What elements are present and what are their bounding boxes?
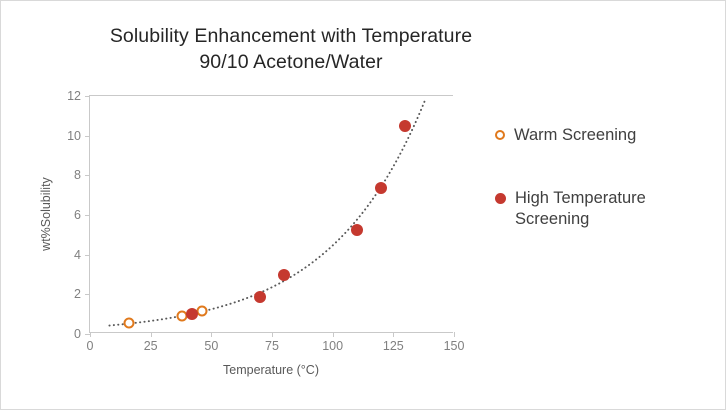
x-axis-tick-mark — [454, 332, 455, 337]
y-axis-tick-mark — [85, 136, 90, 137]
x-axis-tick-mark — [151, 332, 152, 337]
y-axis-tick-mark — [85, 294, 90, 295]
open-circle-icon — [495, 130, 505, 140]
chart-legend: Warm Screening High Temperature Screenin… — [495, 125, 715, 272]
x-axis-tick-label: 125 — [383, 339, 404, 353]
chart-frame: Solubility Enhancement with Temperature … — [0, 0, 726, 410]
plot-area: 0246810120255075100125150 — [89, 95, 453, 333]
data-point[interactable] — [399, 120, 411, 132]
x-axis-tick-mark — [272, 332, 273, 337]
filled-circle-icon — [495, 193, 506, 204]
x-axis-tick-label: 100 — [322, 339, 343, 353]
y-axis-tick-mark — [85, 175, 90, 176]
x-axis-tick-mark — [90, 332, 91, 337]
x-axis-tick-label: 50 — [204, 339, 218, 353]
legend-item-high-temperature-screening[interactable]: High Temperature Screening — [495, 188, 715, 230]
legend-item-warm-screening[interactable]: Warm Screening — [495, 125, 715, 146]
data-point[interactable] — [351, 224, 363, 236]
x-axis-tick-mark — [211, 332, 212, 337]
x-axis-tick-label: 25 — [144, 339, 158, 353]
x-axis-tick-mark — [333, 332, 334, 337]
chart-title-line-1: Solubility Enhancement with Temperature — [61, 23, 521, 49]
trendline — [90, 96, 454, 334]
data-point[interactable] — [375, 182, 387, 194]
legend-label-high-temperature-screening: High Temperature Screening — [515, 188, 705, 230]
data-point[interactable] — [123, 318, 134, 329]
x-axis-tick-label: 0 — [87, 339, 94, 353]
data-point[interactable] — [278, 269, 290, 281]
y-axis-tick-mark — [85, 255, 90, 256]
x-axis-tick-mark — [393, 332, 394, 337]
legend-label-warm-screening: Warm Screening — [514, 125, 636, 146]
data-point[interactable] — [186, 308, 198, 320]
x-axis-tick-label: 75 — [265, 339, 279, 353]
data-point[interactable] — [254, 291, 266, 303]
chart-title: Solubility Enhancement with Temperature … — [61, 23, 521, 75]
plot-inner — [90, 96, 453, 332]
chart-title-line-2: 90/10 Acetone/Water — [61, 49, 521, 75]
x-axis-label: Temperature (°C) — [89, 363, 453, 377]
y-axis-tick-mark — [85, 96, 90, 97]
y-axis-tick-mark — [85, 215, 90, 216]
y-axis-label: wt%Solubility — [37, 95, 55, 333]
x-axis-tick-label: 150 — [444, 339, 465, 353]
